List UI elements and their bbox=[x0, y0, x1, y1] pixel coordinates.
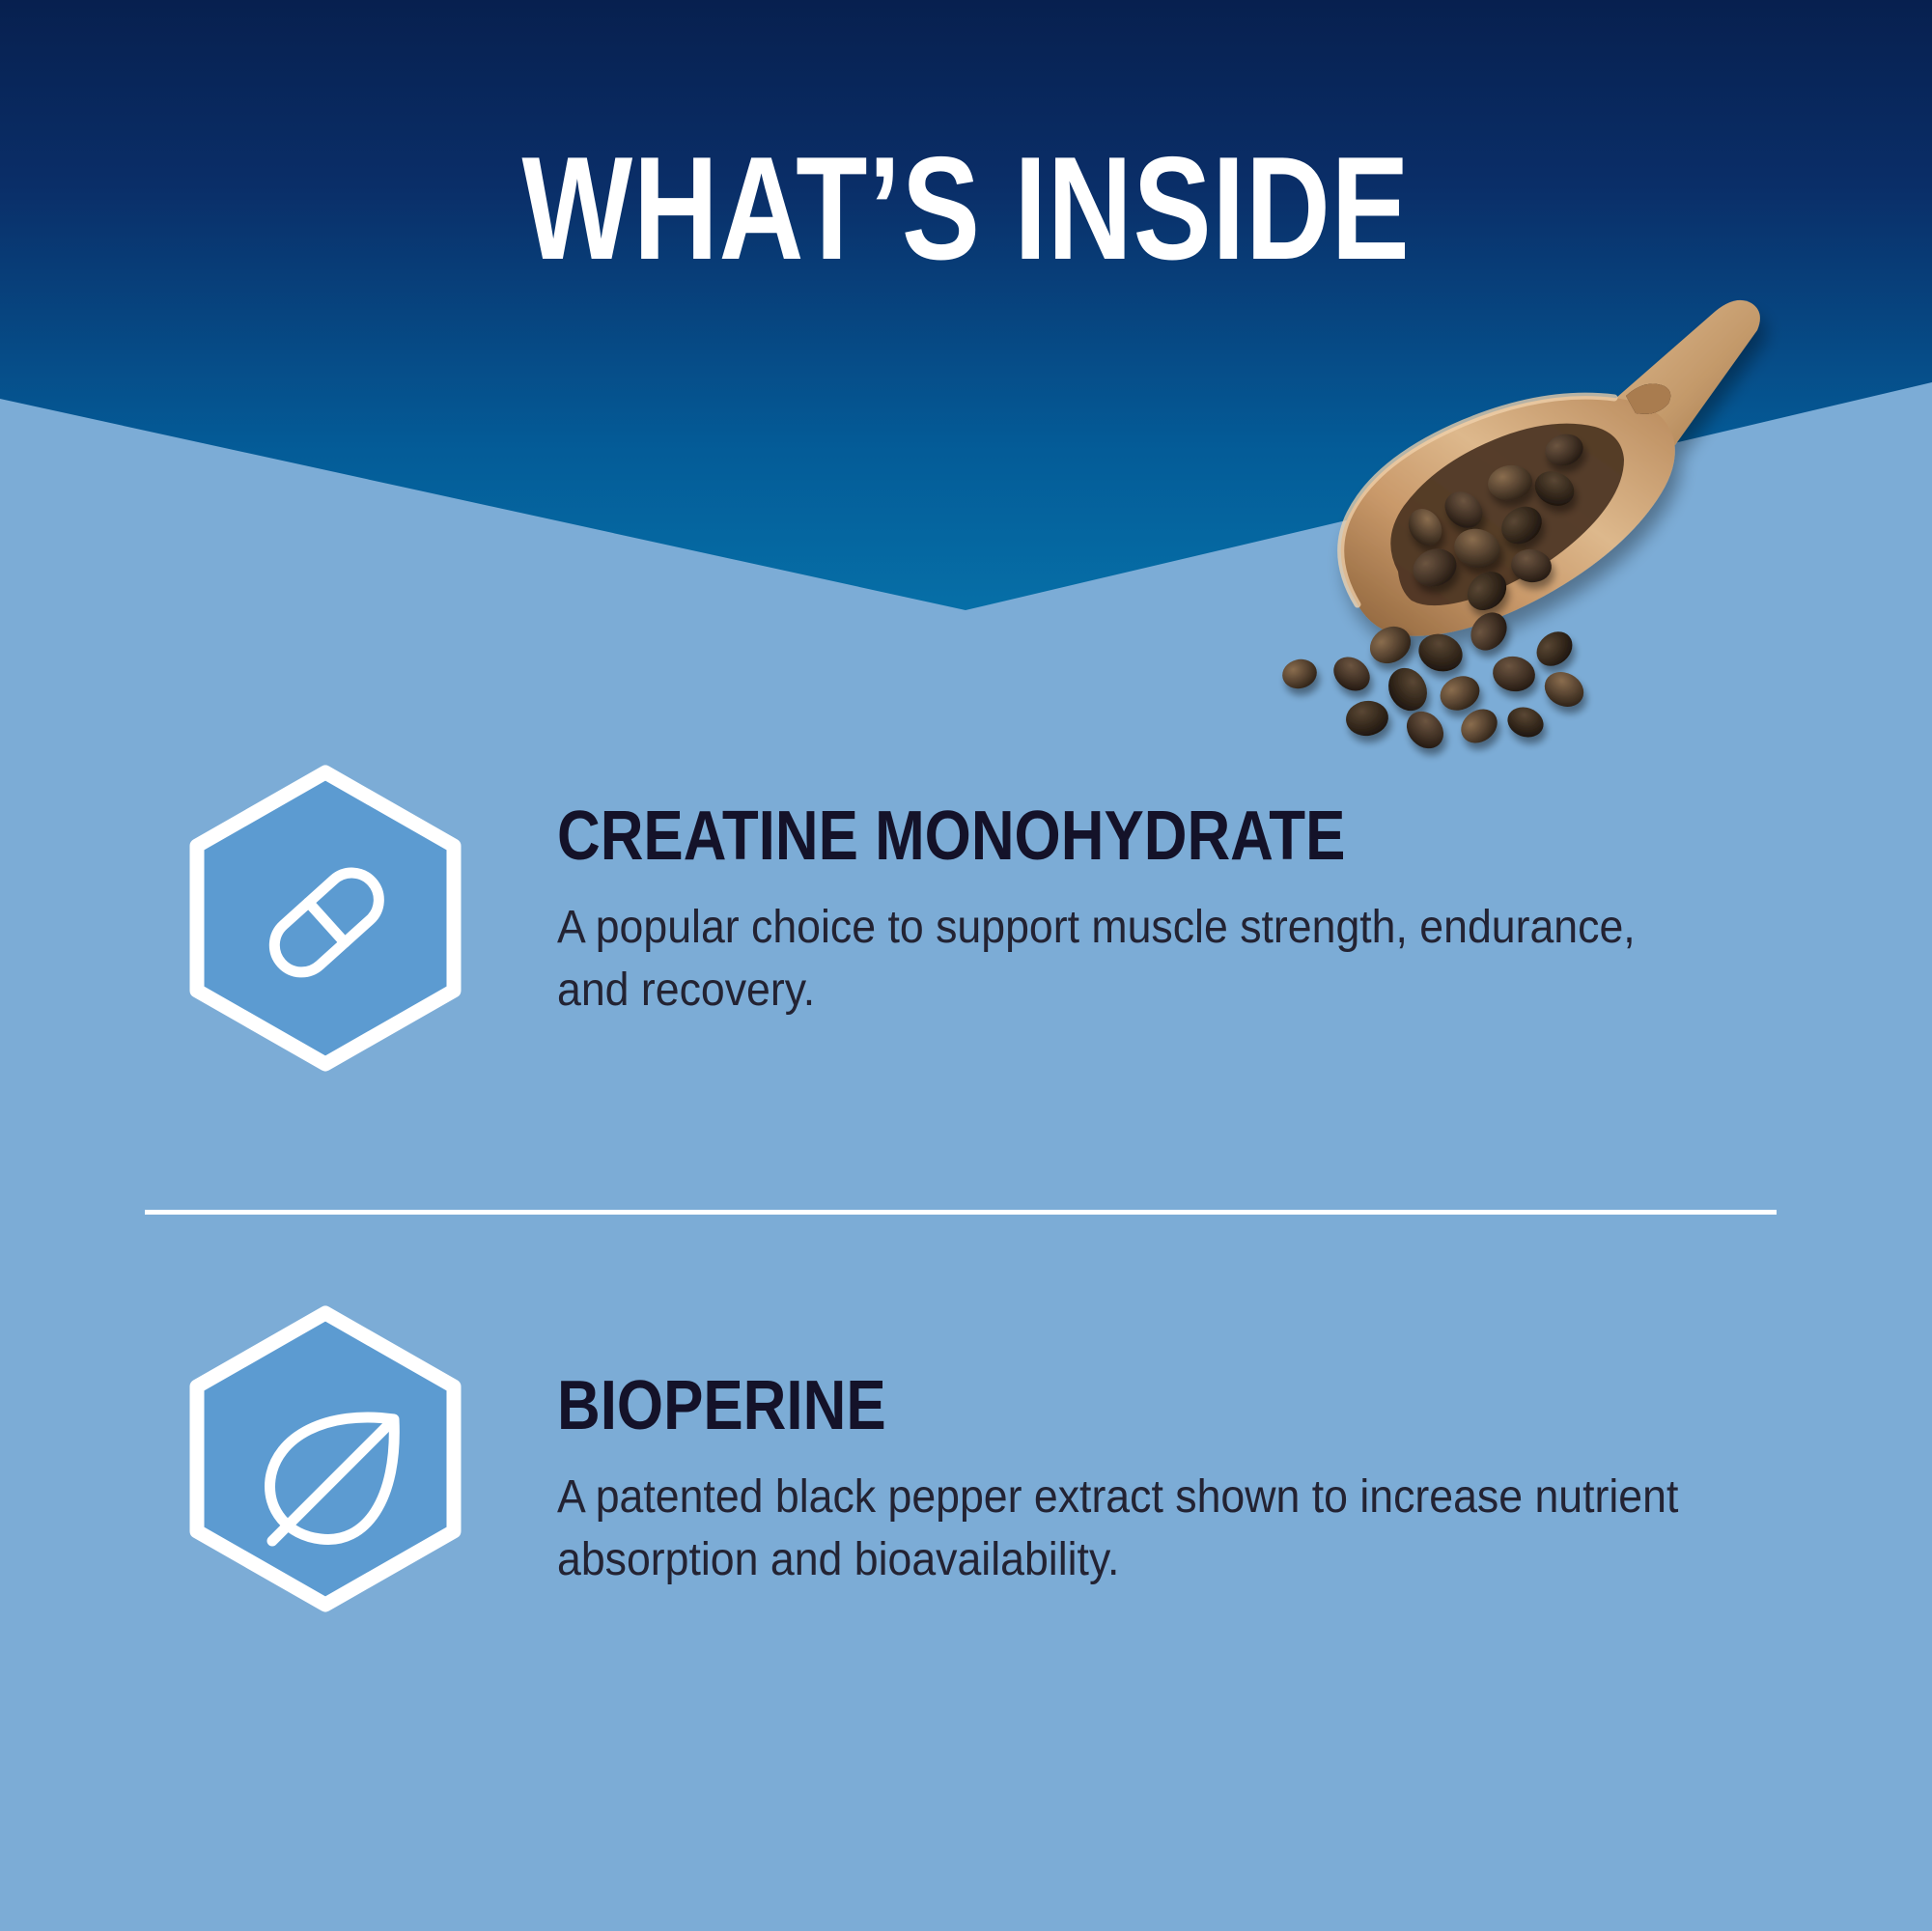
feature-description: A patented black pepper extract shown to… bbox=[557, 1466, 1680, 1592]
hexagon-badge-bioperine bbox=[180, 1301, 471, 1616]
features-section: CREATINE MONOHYDRATE A popular choice to… bbox=[0, 734, 1932, 1690]
section-divider bbox=[145, 1210, 1777, 1215]
feature-row-creatine: CREATINE MONOHYDRATE A popular choice to… bbox=[0, 734, 1932, 1149]
page-title: WHAT’S INSIDE bbox=[193, 135, 1739, 282]
feature-text-bioperine: BIOPERINE A patented black pepper extrac… bbox=[471, 1274, 1932, 1592]
feature-row-bioperine: BIOPERINE A patented black pepper extrac… bbox=[0, 1274, 1932, 1690]
feature-title: CREATINE MONOHYDRATE bbox=[557, 801, 1740, 871]
feature-title: BIOPERINE bbox=[557, 1371, 1740, 1441]
feature-description: A popular choice to support muscle stren… bbox=[557, 896, 1680, 1022]
header-band bbox=[0, 0, 1932, 618]
feature-text-creatine: CREATINE MONOHYDRATE A popular choice to… bbox=[471, 734, 1932, 1022]
infographic-canvas: WHAT’S INSIDE bbox=[0, 0, 1932, 1931]
hexagon-badge-creatine bbox=[180, 761, 471, 1076]
